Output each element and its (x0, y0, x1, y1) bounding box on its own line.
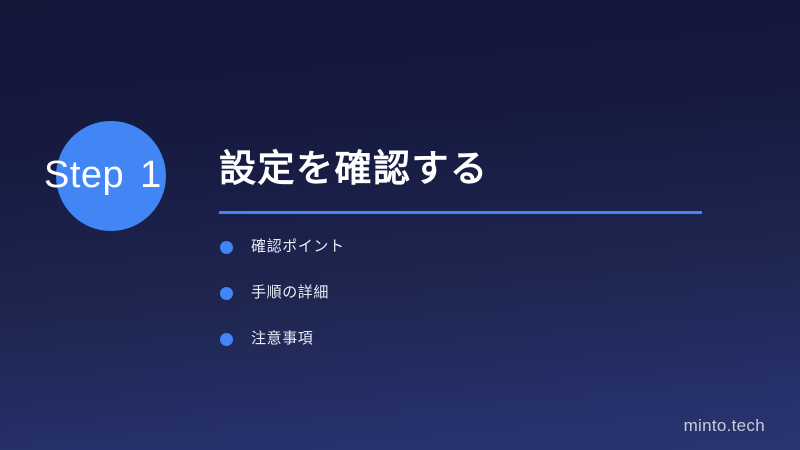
list-item-label: 確認ポイント (251, 237, 345, 257)
title-block: 設定を確認する (219, 146, 739, 214)
list-item: 手順の詳細 (220, 279, 640, 307)
bullet-dot-icon (220, 241, 233, 254)
bullet-list: 確認ポイント 手順の詳細 注意事項 (220, 233, 640, 353)
bullet-dot-icon (220, 287, 233, 300)
title-underline-rule (219, 211, 702, 214)
list-item: 注意事項 (220, 325, 640, 353)
step-label-number: 1 (140, 154, 162, 196)
footer-brand: minto.tech (684, 416, 765, 436)
bullet-dot-icon (220, 333, 233, 346)
slide-title: 設定を確認する (219, 146, 739, 192)
list-item-label: 手順の詳細 (251, 283, 329, 303)
step-label-word: Step (44, 154, 124, 196)
list-item-label: 注意事項 (251, 329, 313, 349)
presentation-slide: Step1 設定を確認する 確認ポイント 手順の詳細 注意事項 minto.te… (0, 0, 800, 450)
list-item: 確認ポイント (220, 233, 640, 261)
step-label: Step1 (44, 153, 162, 197)
